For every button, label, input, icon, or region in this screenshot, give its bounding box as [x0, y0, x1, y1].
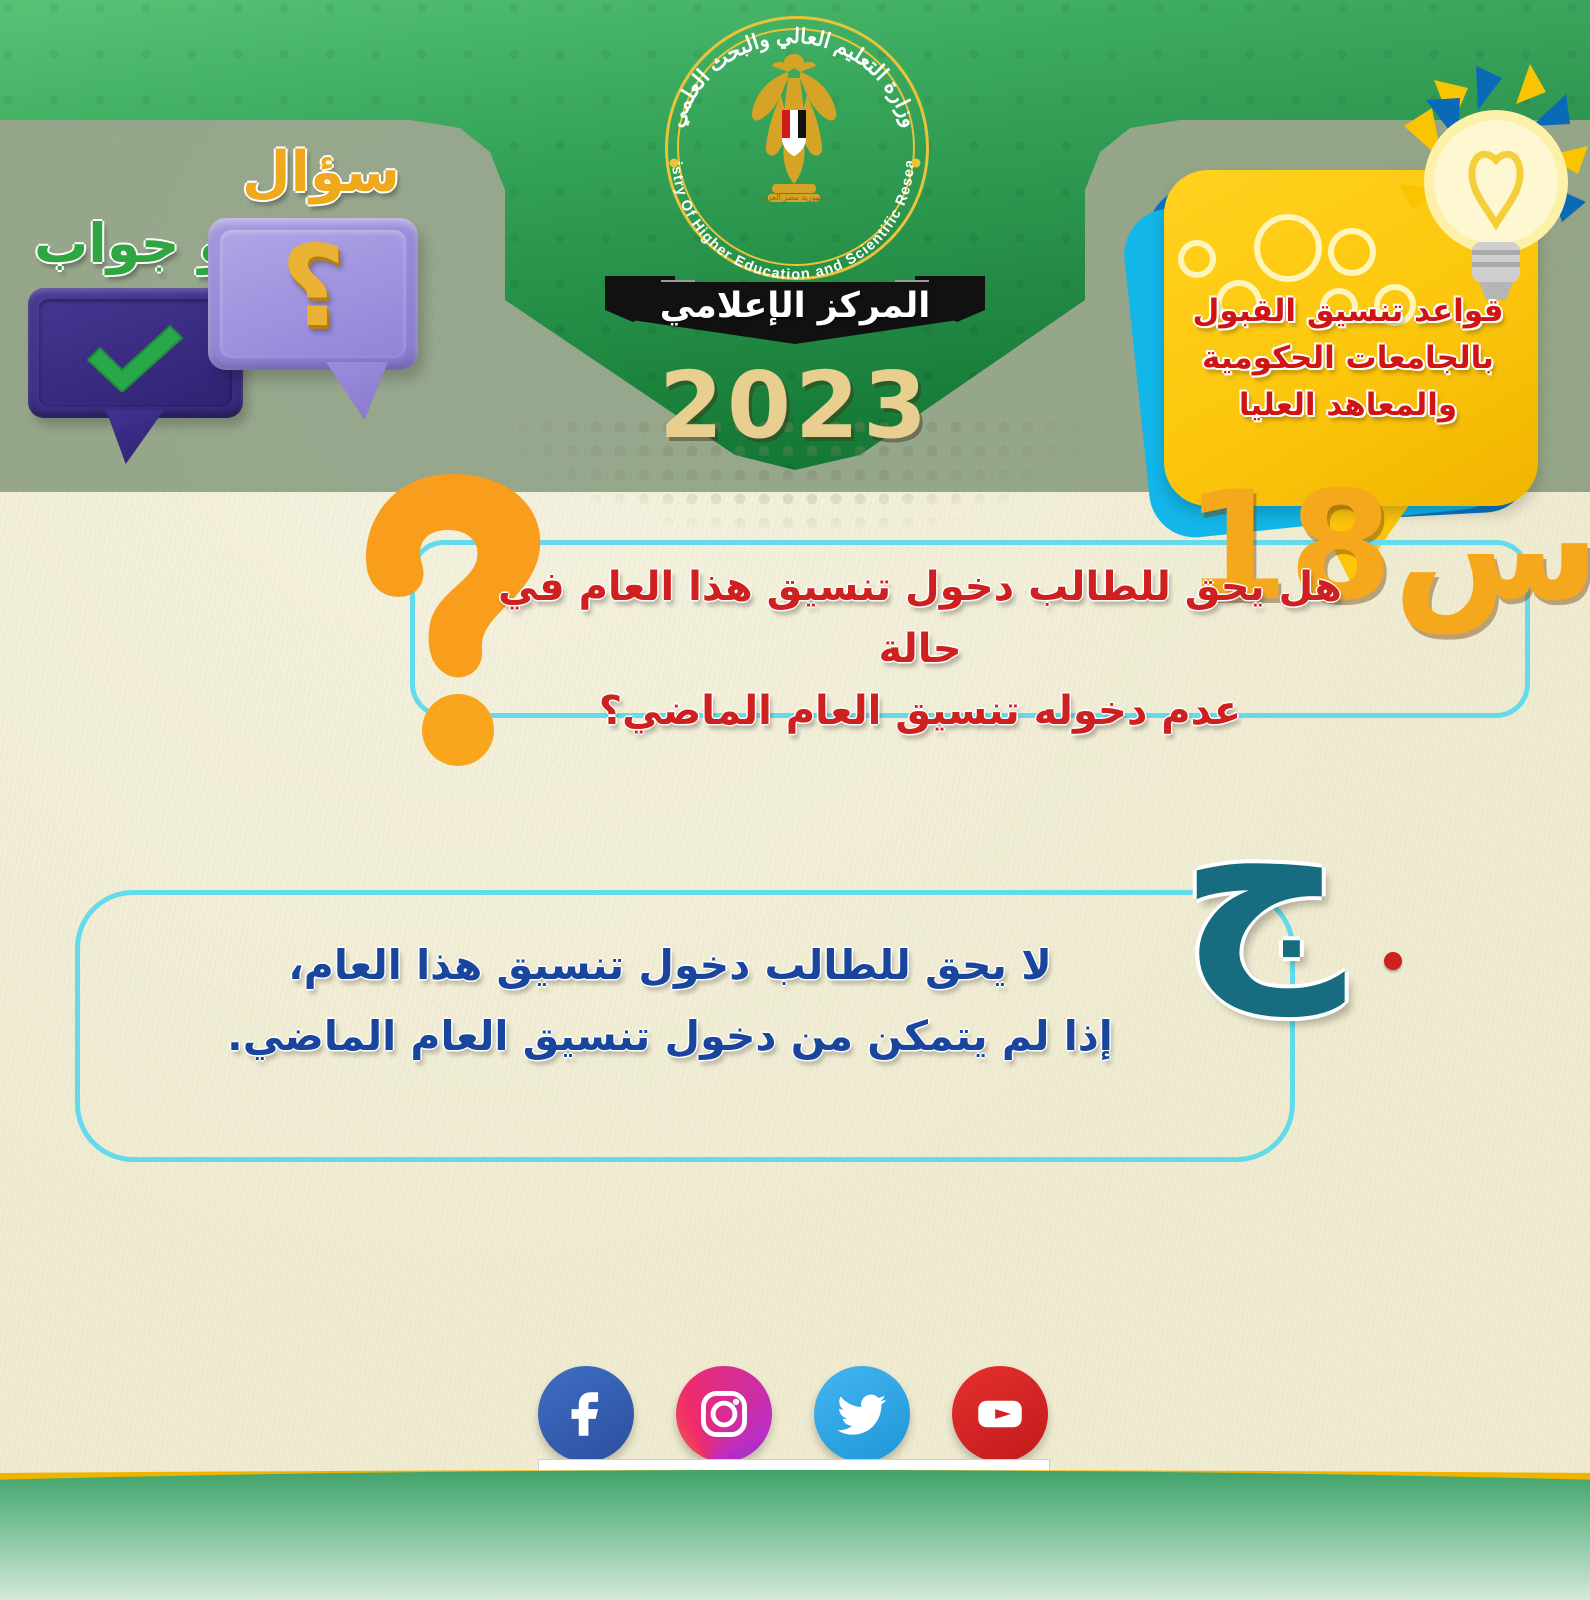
youtube-glyph — [971, 1385, 1029, 1443]
facebook-glyph — [557, 1385, 615, 1443]
ministry-emblem: وزارة التعليم العالي والبحث العلمي Minis… — [630, 8, 960, 308]
answer-line-1: لا يحق للطالب دخول تنسيق هذا العام، — [170, 930, 1170, 1001]
lightbulb-icon — [1380, 64, 1590, 314]
facebook-icon[interactable] — [538, 1366, 634, 1462]
answer-text: لا يحق للطالب دخول تنسيق هذا العام، إذا … — [170, 930, 1170, 1071]
question-text: هل يحق للطالب دخول تنسيق هذا العام في حا… — [470, 556, 1370, 742]
footer-curve — [0, 1470, 1590, 1600]
question-line-1: هل يحق للطالب دخول تنسيق هذا العام في حا… — [470, 556, 1370, 680]
topic-line-1: قواعد تنسيق القبول — [1148, 288, 1548, 335]
qa-badge: سؤال و جواب ؟ — [18, 140, 428, 440]
answer-word-label: و جواب — [34, 212, 232, 275]
emblem-ring-dot-right — [912, 159, 921, 168]
topic-card-text: قواعد تنسيق القبول بالجامعات الحكومية وا… — [1148, 288, 1548, 429]
question-mark-glyph: ؟ — [208, 222, 418, 352]
year-label: 2023 — [605, 352, 985, 459]
topic-line-2: بالجامعات الحكومية — [1148, 335, 1548, 382]
emblem-ring-dot-left — [670, 159, 679, 168]
question-word-label: سؤال — [242, 140, 400, 205]
topic-line-3: والمعاهد العليا — [1148, 382, 1548, 429]
youtube-icon[interactable] — [952, 1366, 1048, 1462]
answer-bullet — [1384, 952, 1402, 970]
ribbon-label: المركز الإعلامي — [605, 286, 985, 326]
answer-letter-label: ج — [1152, 768, 1372, 998]
instagram-glyph — [695, 1385, 753, 1443]
question-line-2: عدم دخوله تنسيق العام الماضي؟ — [470, 680, 1370, 742]
eagle-of-saladin-icon: جمهورية مصر العربية — [748, 48, 840, 218]
question-speech-bubble: ؟ — [208, 218, 418, 370]
question-number-label: س18 — [1360, 472, 1590, 622]
instagram-icon[interactable] — [676, 1366, 772, 1462]
answer-line-2: إذا لم يتمكن من دخول تنسيق العام الماضي. — [170, 1001, 1170, 1072]
twitter-glyph — [833, 1385, 891, 1443]
twitter-icon[interactable] — [814, 1366, 910, 1462]
social-links — [538, 1366, 1048, 1462]
checkmark-icon — [80, 322, 190, 392]
emblem-shield-caption: جمهورية مصر العربية — [759, 193, 829, 202]
footer-green-arc — [0, 1470, 1590, 1600]
media-center-ribbon: المركز الإعلامي — [605, 276, 985, 350]
